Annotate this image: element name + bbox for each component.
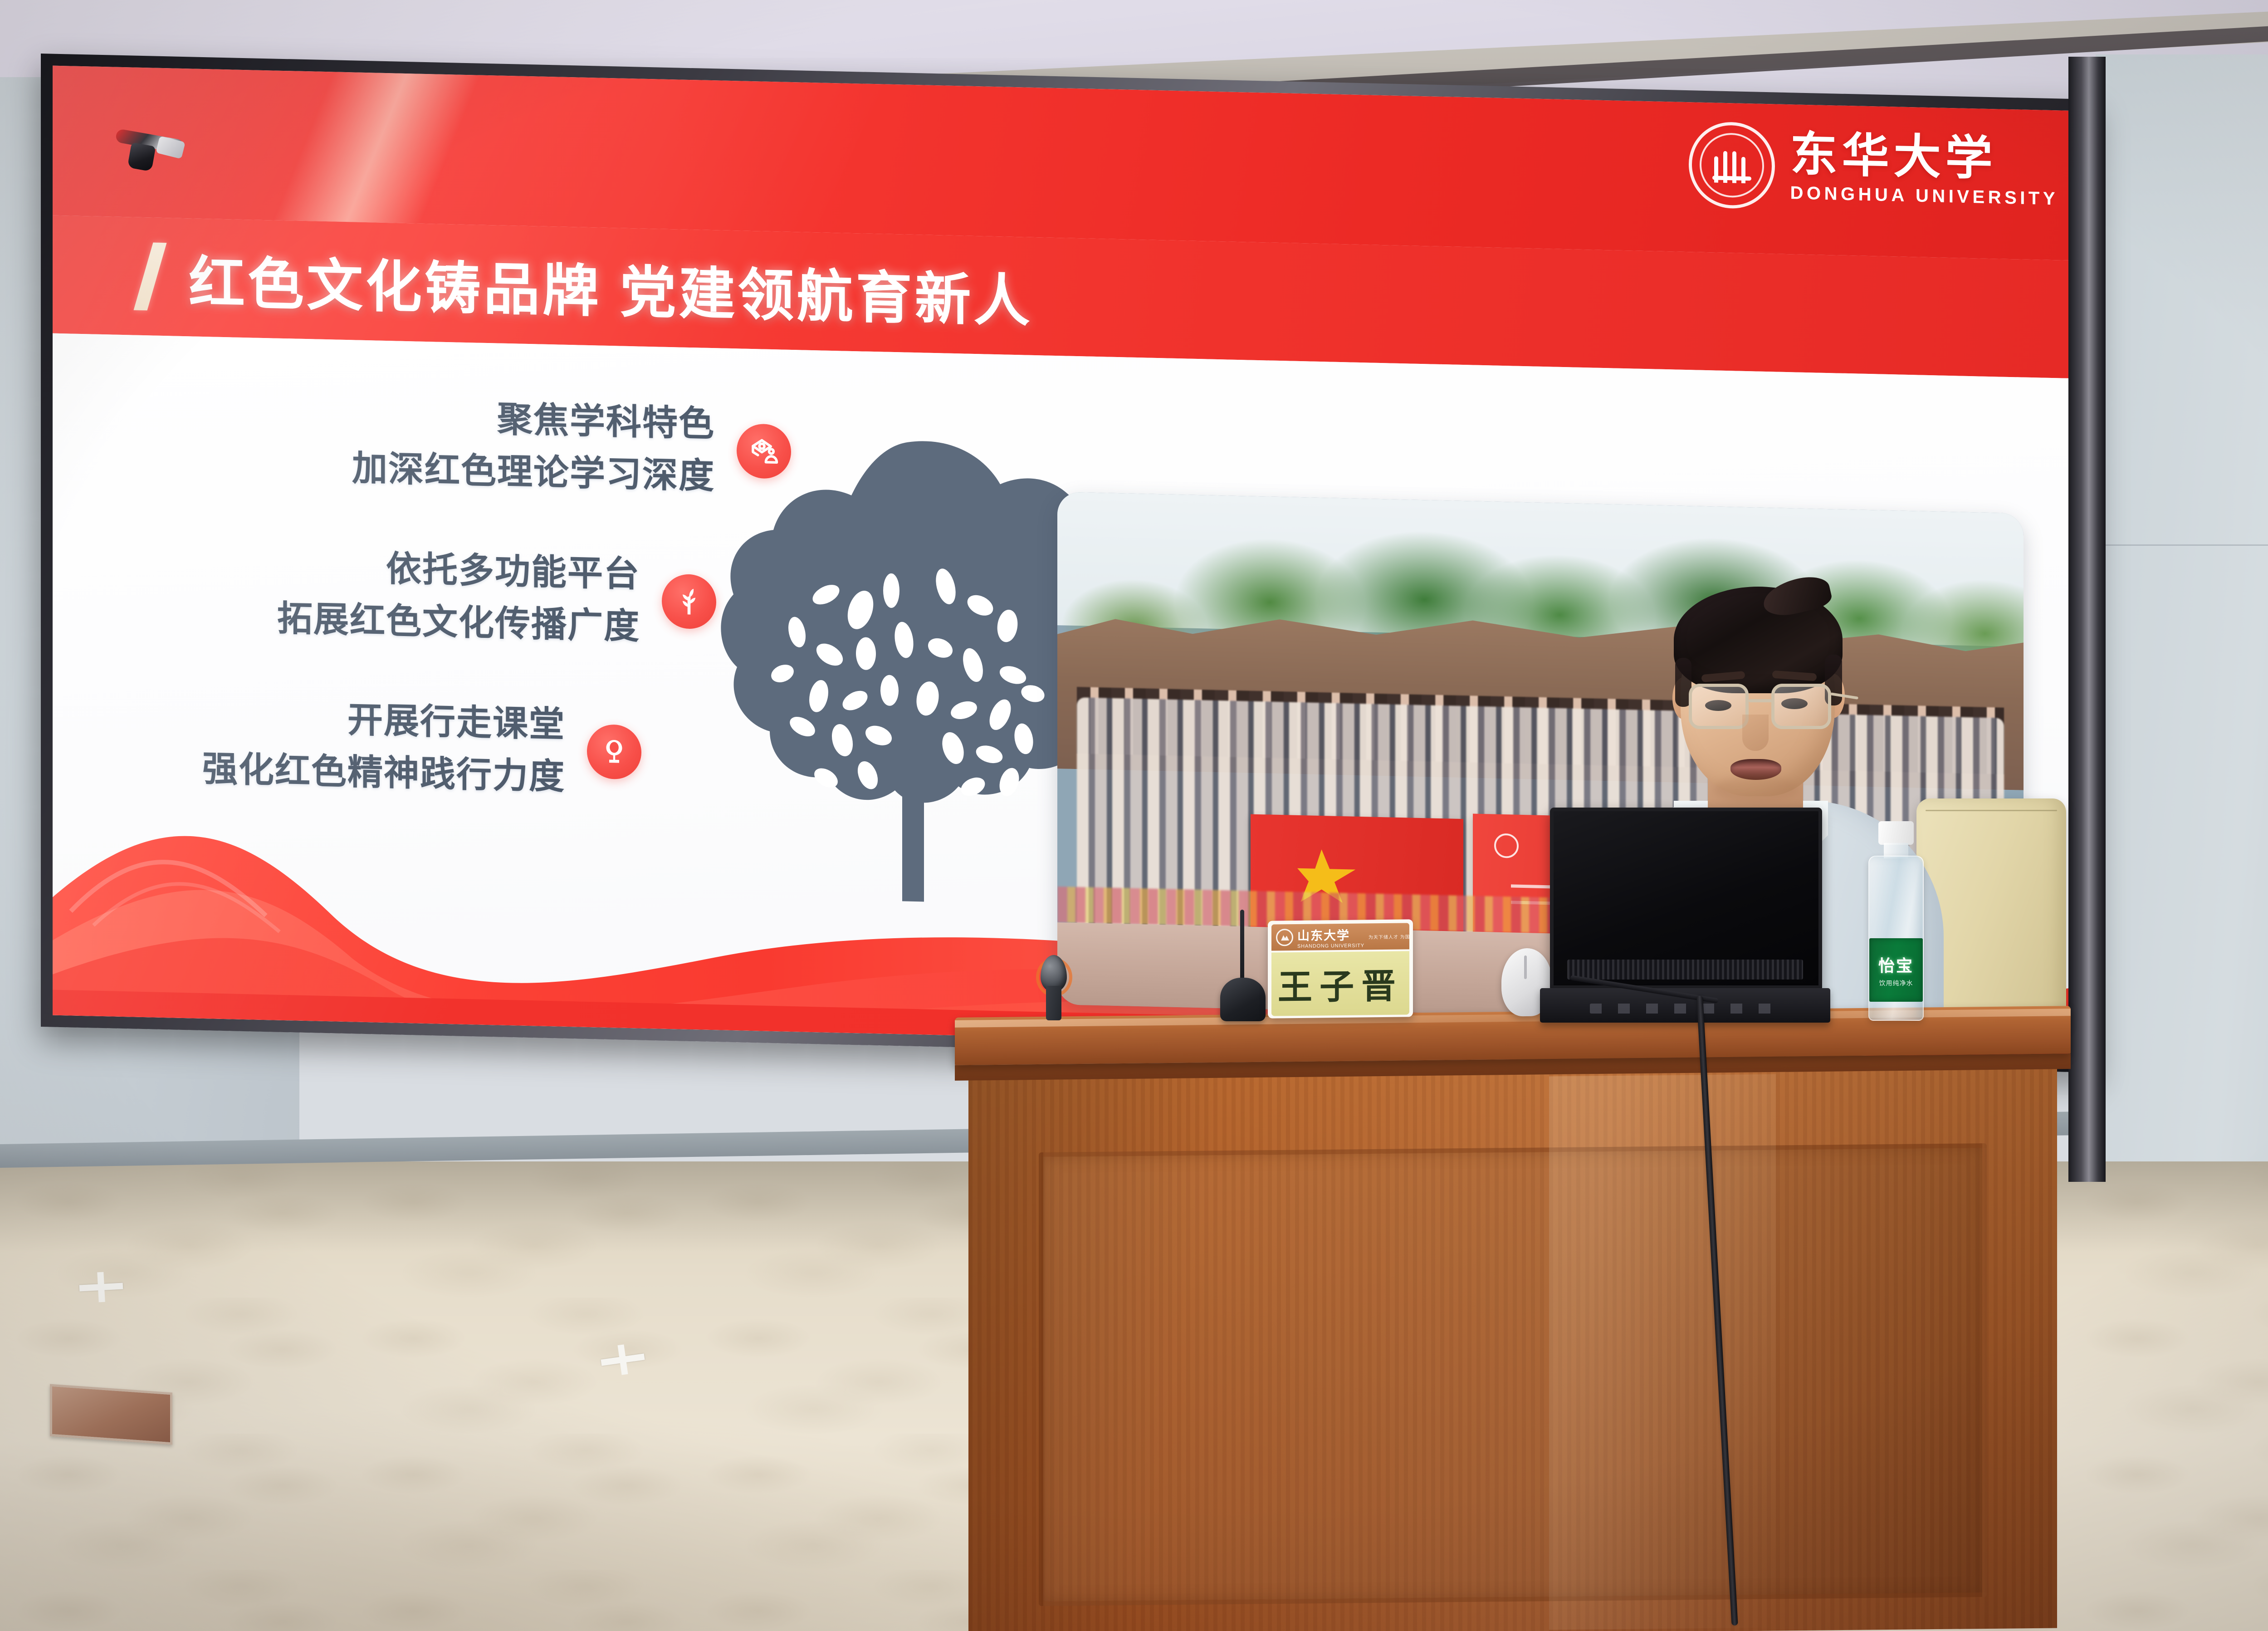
bullet-line2: 拓展红色文化传播广度 [277,593,640,653]
bullet-text-3: 开展行走课堂 强化红色精神践行力度 [202,691,565,803]
laptop[interactable] [1540,808,1830,1021]
bullet-line2: 强化红色精神践行力度 [202,743,565,803]
handheld-microphone-icon[interactable] [1034,955,1073,1019]
bullet-item-2: 依托多功能平台 拓展红色文化传播广度 [277,540,716,655]
wall-panel-seam [2096,544,2268,546]
lens-right [1771,684,1831,729]
nameplate: 山东大学 SHANDONG UNIVERSITY 为天下储人才 为国家图富强 王… [1268,919,1413,1018]
bottle-cap [1878,821,1914,845]
book-person-glyph [748,435,780,468]
conference-room-scene: 东华大学 DONGHUA UNIVERSITY 红色文化铸品牌 党建领航育新人 [0,0,2268,1631]
bullet-text-1: 聚焦学科特色 加深红色理论学习深度 [352,390,715,503]
nameplate-org-band: 山东大学 SHANDONG UNIVERSITY 为天下储人才 为国家图富强 [1271,923,1409,950]
nameplate-motto: 为天下储人才 为国家图富强 [1369,932,1409,940]
donghua-university-seal-icon [1689,121,1775,209]
sprout-glyph [673,586,705,618]
chin-shadow [1713,776,1799,803]
university-name-cn: 东华大学 [1790,130,2058,185]
mic-body [1046,986,1061,1020]
bullet-line2: 加深红色理论学习深度 [352,442,715,503]
laptop-ports [1590,1004,1780,1014]
screen-bezel-right [2068,57,2106,1182]
seal-glyph [1712,147,1751,183]
nameplate-org-en: SHANDONG UNIVERSITY [1297,943,1364,949]
podium-highlight [1549,1074,1776,1630]
glasses-bridge [1749,699,1772,702]
university-name-block: 东华大学 DONGHUA UNIVERSITY [1790,130,2058,209]
bullet-line1: 开展行走课堂 [347,700,565,744]
university-name-en: DONGHUA UNIVERSITY [1790,183,2058,209]
floor-outlet-box [50,1384,172,1445]
bullet-text-2: 依托多功能平台 拓展红色文化传播广度 [277,540,640,653]
nameplate-org-cn: 山东大学 [1297,925,1364,944]
shandong-university-seal-icon [1276,929,1293,946]
bullet-item-3: 开展行走课堂 强化红色精神践行力度 [202,691,641,805]
bullet-line1: 聚焦学科特色 [497,399,715,444]
mic-stem [1240,910,1244,987]
speaker-hair [1674,587,1843,693]
mic-base [1220,978,1266,1021]
bottle-label: 怡宝 饮用纯净水 [1869,938,1923,1002]
tree-lamp-icon [587,724,641,780]
lens-left [1689,684,1749,729]
nose [1742,715,1769,751]
bullet-line1: 依托多功能平台 [386,549,640,594]
sprout-icon [662,574,716,630]
ceiling-camera-icon [116,131,184,172]
water-bottle[interactable]: 怡宝 饮用纯净水 [1867,821,1926,1021]
nameplate-org-text: 山东大学 SHANDONG UNIVERSITY [1297,925,1364,949]
chair-seam [1926,810,2057,811]
gooseneck-microphone-icon[interactable] [1216,910,1270,1023]
bottle-brand: 怡宝 [1878,953,1914,976]
podium-inset-panel [1039,1143,1987,1606]
camera-arm [156,136,185,159]
book-person-icon [737,424,791,480]
nameplate-name: 王子晋 [1278,958,1403,1009]
camera-lens [127,142,156,172]
university-logo: 东华大学 DONGHUA UNIVERSITY [1689,121,2058,216]
bullet-item-1: 聚焦学科特色 加深红色理论学习深度 [352,390,791,504]
tree-lamp-glyph [598,736,630,769]
title-slash-accent [133,243,166,311]
wall-panel-right [2096,54,2268,1216]
slide-title: 红色文化铸品牌 党建领航育新人 [189,236,1032,337]
nameplate-name-area: 王子晋 [1271,951,1409,1016]
laptop-hinge-vents [1567,960,1803,980]
wooden-podium [968,1012,2057,1631]
bottle-subtitle: 饮用纯净水 [1879,979,1913,988]
